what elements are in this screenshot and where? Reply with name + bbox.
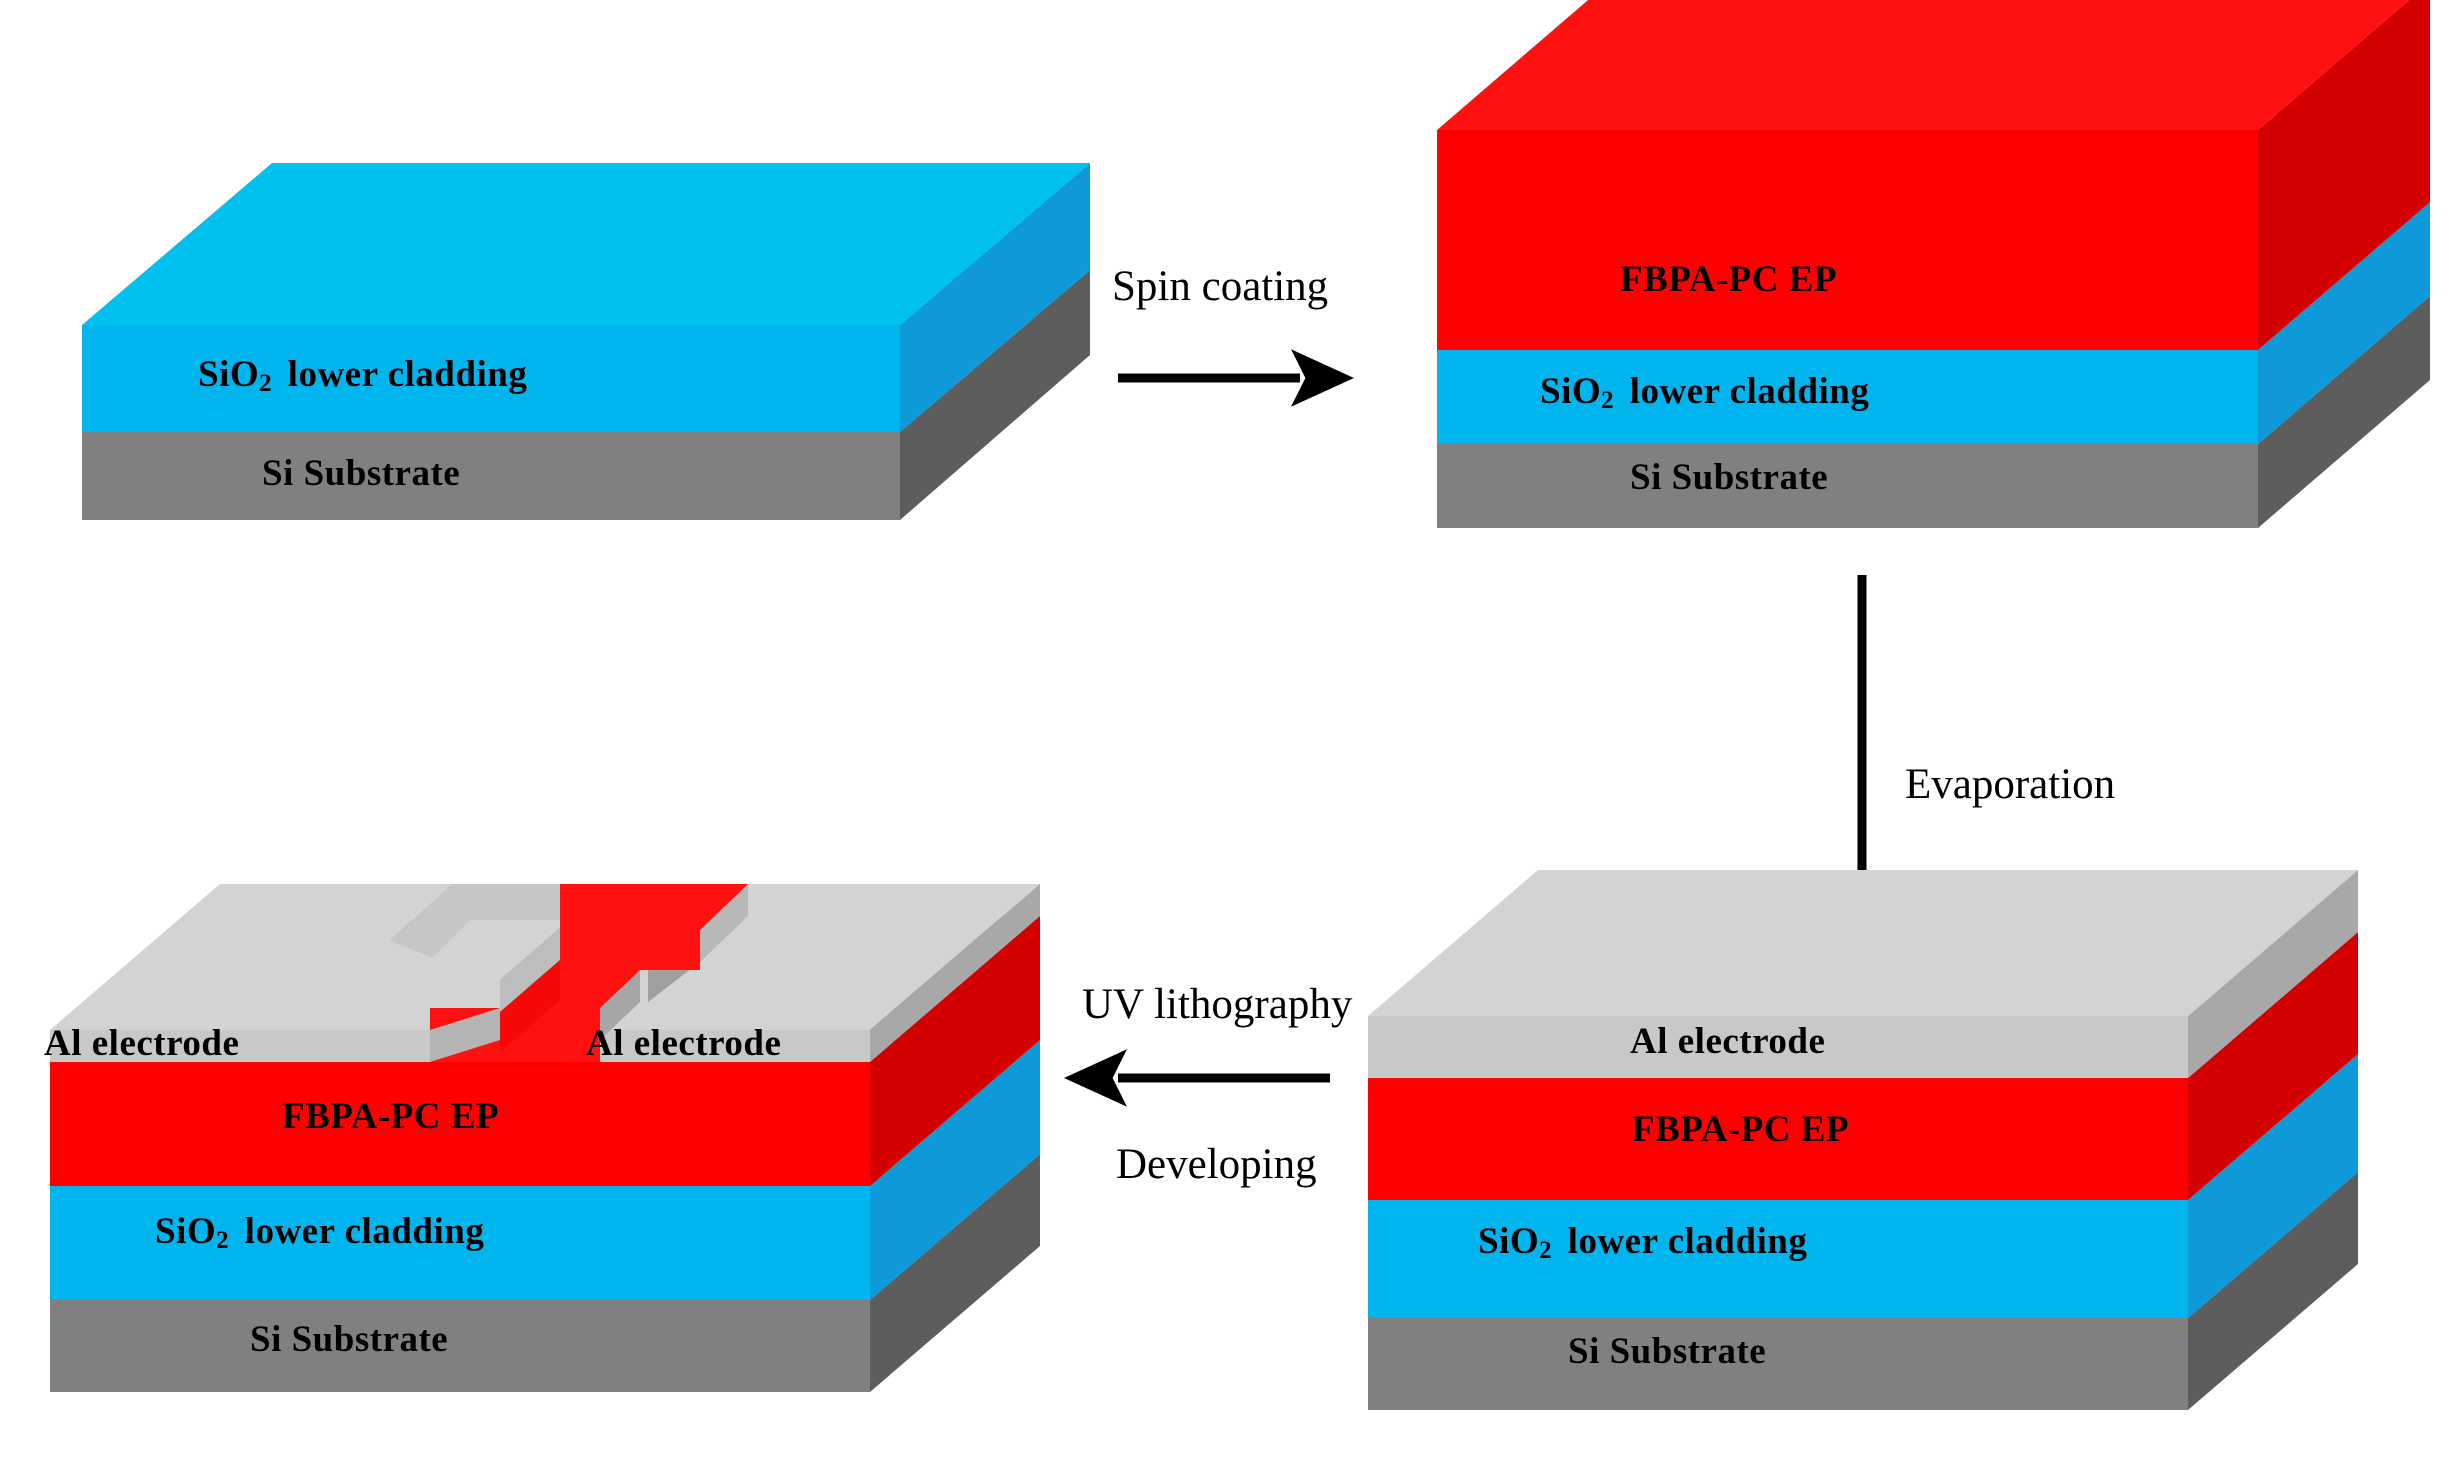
si-substrate-front-face — [82, 432, 900, 520]
sio2-front-face — [50, 1186, 870, 1300]
step-4-block — [50, 884, 1040, 1392]
step-1-block — [82, 163, 1090, 520]
diagram-canvas: SiO2lower cladding Si Substrate Spin coa… — [0, 0, 2456, 1482]
polymer-front-face — [1368, 1078, 2188, 1200]
step-3-block — [1368, 870, 2358, 1410]
sio2-front-face — [82, 325, 900, 432]
sio2-front-face — [1368, 1200, 2188, 1318]
polymer-front-face — [50, 1062, 870, 1186]
si-substrate-front-face — [1437, 444, 2258, 528]
polymer-front-face — [1437, 130, 2258, 350]
al-electrode-right-front-face — [600, 1030, 870, 1062]
al-electrode-left-front-face — [50, 1030, 430, 1062]
step-2-block — [1437, 0, 2430, 528]
al-electrode-front-face — [1368, 1016, 2188, 1078]
si-substrate-front-face — [50, 1300, 870, 1392]
al-electrode-top-face — [1368, 870, 2358, 1016]
sio2-front-face — [1437, 350, 2258, 444]
process-flow-svg — [0, 0, 2456, 1482]
si-substrate-front-face — [1368, 1318, 2188, 1410]
